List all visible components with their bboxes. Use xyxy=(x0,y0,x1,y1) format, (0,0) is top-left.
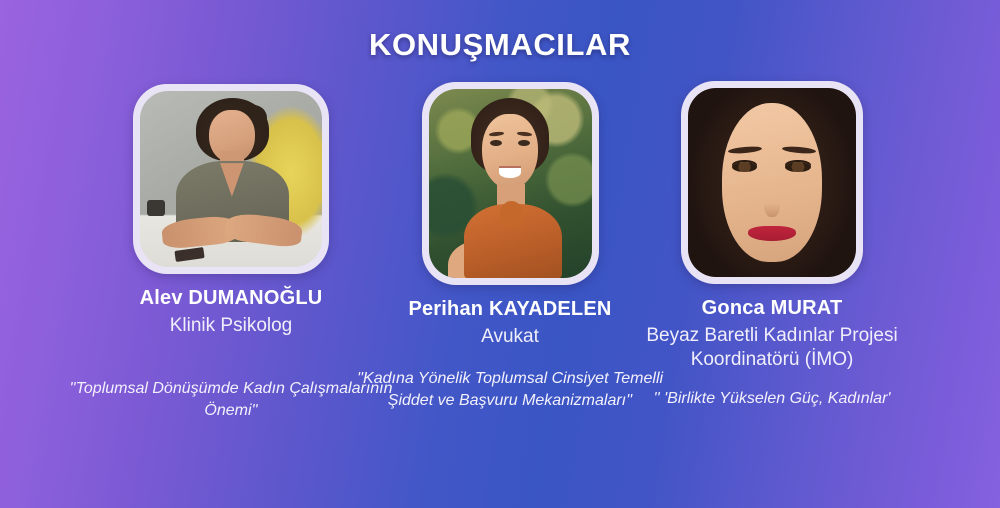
portrait-photo-2 xyxy=(429,89,592,278)
speaker-card-3: Gonca MURAT Beyaz Baretli Kadınlar Proje… xyxy=(602,81,942,409)
portrait-photo-1 xyxy=(140,91,322,267)
photo-eye-left xyxy=(490,140,501,146)
speakers-slide: KONUŞMACILAR Alev DUMANOĞLU Klinik Psiko… xyxy=(0,0,1000,508)
speaker-quote-3: '' 'Birlikte Yükselen Güç, Kadınlar' xyxy=(602,388,942,409)
speaker-role-3: Beyaz Baretli Kadınlar Projesi Koordinat… xyxy=(602,324,942,373)
photo-halter-collar xyxy=(500,201,523,227)
photo-frame-1 xyxy=(133,84,329,274)
speaker-name-3: Gonca MURAT xyxy=(602,296,942,321)
portrait-photo-3 xyxy=(688,88,856,277)
photo-phone-object xyxy=(174,247,204,261)
photo-eye-right xyxy=(785,162,810,172)
photo-desk-object xyxy=(147,200,165,216)
page-title: KONUŞMACILAR xyxy=(0,27,1000,63)
photo-smile xyxy=(499,166,522,177)
photo-frame-3 xyxy=(681,81,863,284)
photo-frame-2 xyxy=(422,82,599,285)
photo-eye-right xyxy=(518,140,529,146)
photo-nose xyxy=(764,186,781,216)
photo-lips xyxy=(748,226,795,241)
photo-arm-right xyxy=(224,211,303,248)
photo-eye-left xyxy=(732,162,757,172)
